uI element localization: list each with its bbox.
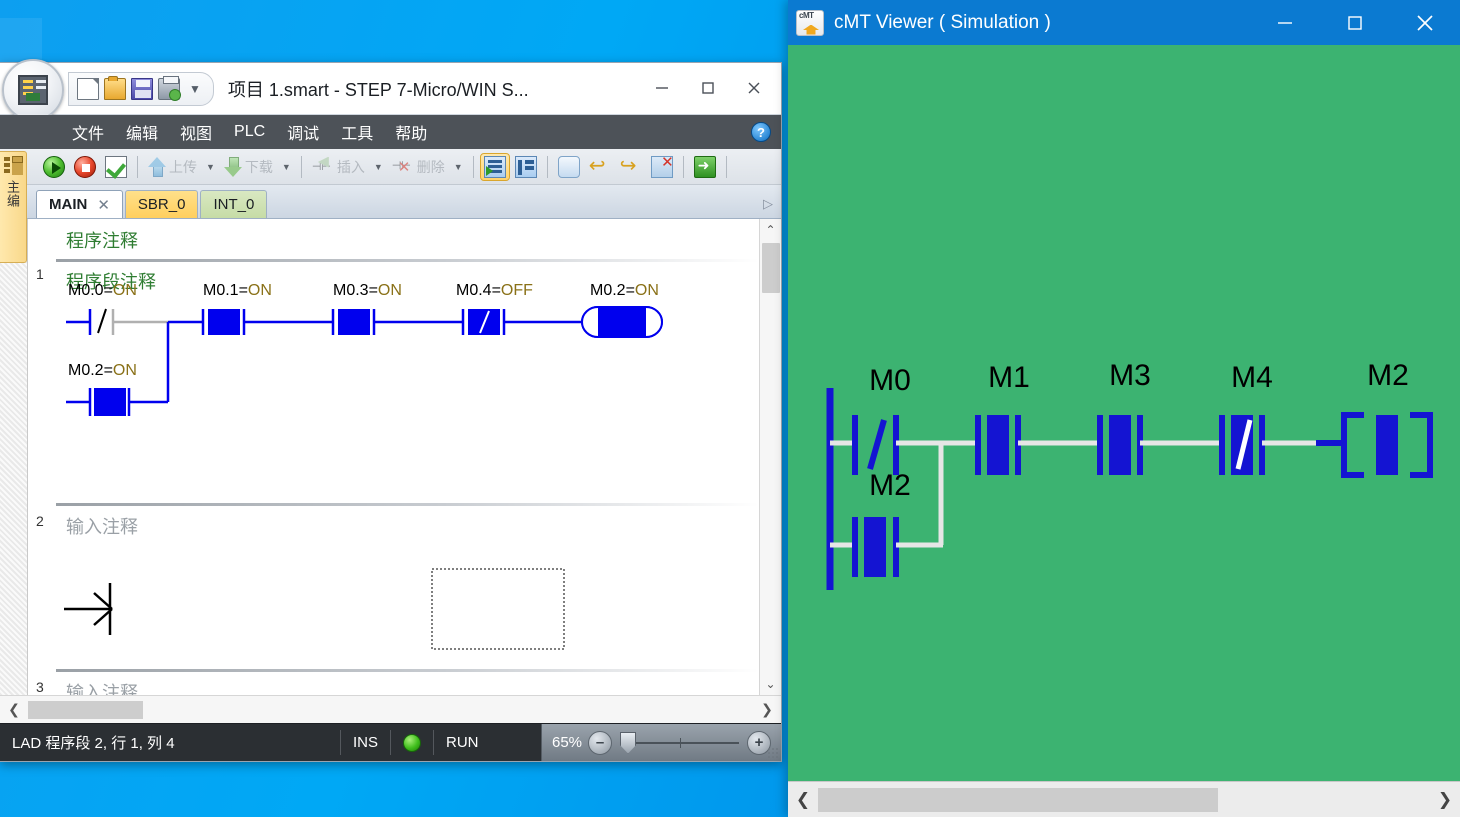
menu-item-help[interactable]: 帮助 — [395, 120, 427, 144]
main-toolbar[interactable]: 上传 ▼ 下载 ▼ 插入 ▼ 删除 ▼ — [0, 149, 781, 185]
stop-button[interactable] — [71, 154, 99, 180]
delete-label: 删除 — [417, 157, 445, 177]
zoom-slider-tick — [680, 738, 681, 748]
status-position: LAD 程序段 2, 行 1, 列 4 — [0, 724, 340, 761]
minimize-button[interactable] — [639, 69, 685, 107]
zoom-slider-track[interactable] — [620, 742, 739, 744]
scroll-up-icon[interactable]: ⌃ — [760, 219, 782, 241]
pause-status-button[interactable] — [555, 154, 583, 180]
cursor-selection-box — [432, 569, 564, 649]
zoom-control[interactable]: 65% – + — [541, 724, 781, 761]
menu-item-edit[interactable]: 编辑 — [126, 120, 158, 144]
insert-label: 插入 — [337, 157, 365, 177]
menu-bar[interactable]: 文件 编辑 视图 PLC 调试 工具 帮助 ? — [0, 115, 781, 149]
cmt-logo-icon — [796, 10, 824, 36]
cmt-minimize-button[interactable] — [1250, 0, 1320, 45]
compile-icon — [105, 156, 127, 178]
save-icon[interactable] — [131, 78, 153, 100]
menu-item-plc[interactable]: PLC — [234, 123, 265, 141]
maximize-button[interactable] — [685, 69, 731, 107]
sidebar-tab-label: 主编 — [3, 180, 22, 208]
window-title: 项目 1.smart - STEP 7-Micro/WIN S... — [228, 76, 529, 102]
editor-vertical-scrollbar[interactable]: ⌃ ⌄ — [759, 219, 781, 695]
toolbar-divider — [137, 156, 138, 178]
cmt-scroll-right-icon[interactable]: ❯ — [1430, 782, 1460, 817]
undo-button[interactable] — [586, 154, 614, 180]
scroll-right-icon[interactable]: ❯ — [753, 696, 781, 724]
tab-main-label: MAIN — [49, 196, 87, 213]
quick-access-chevron-down-icon[interactable]: ▼ — [189, 82, 201, 96]
zoom-percent-label: 65% — [552, 734, 582, 751]
insert-chevron-down-icon[interactable]: ▼ — [371, 162, 386, 172]
status-plc-mode: RUN — [434, 724, 491, 761]
segment-2-comment[interactable]: 输入注释 — [28, 507, 759, 539]
ladder-label-m02-contact: M0.2=ON — [68, 362, 137, 379]
ladder-label-m00: M0.0=ON — [68, 282, 137, 299]
cmt-maximize-button[interactable] — [1320, 0, 1390, 45]
cmt-scroll-thumb[interactable] — [818, 788, 1218, 812]
tab-main-close-icon[interactable]: ✕ — [97, 196, 110, 214]
hmi-ladder-diagram[interactable]: M0 M2 M1 M3 M4 M2 — [788, 45, 1460, 781]
run-button[interactable] — [40, 154, 68, 180]
insert-button[interactable]: 插入 — [309, 154, 368, 180]
compile-button[interactable] — [102, 154, 130, 180]
hmi-label-m2-contact: M2 — [869, 469, 911, 502]
chart-status-icon — [515, 156, 537, 178]
download-chevron-down-icon[interactable]: ▼ — [279, 162, 294, 172]
hmi-label-m3: M3 — [1109, 359, 1151, 392]
hmi-label-m1: M1 — [988, 361, 1030, 394]
tab-main[interactable]: MAIN ✕ — [36, 190, 123, 218]
rounded-rect-icon — [558, 156, 580, 178]
ladder-rung-2[interactable] — [28, 549, 628, 689]
undo-icon — [589, 156, 611, 178]
editor-horizontal-scrollbar[interactable]: ❮ ❯ — [0, 695, 781, 723]
segment-divider — [56, 669, 759, 672]
cmt-horizontal-scrollbar[interactable]: ❮ ❯ — [788, 781, 1460, 817]
status-bar: LAD 程序段 2, 行 1, 列 4 INS RUN 65% – + — [0, 723, 781, 761]
program-tree-icon — [4, 156, 22, 176]
help-icon[interactable]: ? — [751, 122, 771, 142]
cmt-window-controls[interactable] — [1250, 0, 1460, 45]
application-menu-orb[interactable] — [2, 59, 64, 121]
menu-item-view[interactable]: 视图 — [180, 120, 212, 144]
step7-title-bar[interactable]: ▼ 项目 1.smart - STEP 7-Micro/WIN S... — [0, 63, 781, 115]
toolbar-divider — [726, 156, 727, 178]
scroll-left-icon[interactable]: ❮ — [0, 696, 28, 724]
delete-icon — [392, 156, 414, 178]
editor-gutter — [0, 219, 28, 695]
plc-logo-icon — [18, 75, 48, 105]
toolbar-divider — [683, 156, 684, 178]
ladder-label-m01: M0.1=ON — [203, 282, 272, 299]
execute-button[interactable] — [691, 154, 719, 180]
step7-microwin-window[interactable]: 主编 ▼ 项目 1.smart - STEP 7-Micro/WIN S... — [0, 62, 782, 762]
insert-icon — [312, 156, 334, 178]
tab-sbr0-label: SBR_0 — [138, 196, 186, 213]
run-icon — [43, 156, 65, 178]
ladder-label-m02-coil: M0.2=ON — [590, 282, 659, 299]
segment-3-comment[interactable]: 输入注释 — [28, 673, 759, 695]
ladder-label-m03: M0.3=ON — [333, 282, 402, 299]
cmt-viewer-window[interactable]: cMT Viewer ( Simulation ) M0 M2 M1 M3 M4… — [788, 0, 1460, 817]
wallpaper-accent-block — [0, 18, 42, 64]
segment-number-3: 3 — [36, 679, 44, 695]
delete-stack-button[interactable] — [648, 154, 676, 180]
hmi-label-m2-coil: M2 — [1367, 359, 1409, 392]
tab-scroll-right-icon[interactable]: ▷ — [763, 196, 773, 212]
sidebar-tab-program-tree[interactable]: 主编 — [0, 151, 27, 263]
cmt-hmi-canvas[interactable]: M0 M2 M1 M3 M4 M2 — [788, 45, 1460, 781]
status-insert-mode: INS — [341, 724, 390, 761]
upload-chevron-down-icon[interactable]: ▼ — [203, 162, 218, 172]
window-controls[interactable] — [639, 69, 777, 107]
ladder-editor[interactable]: 程序注释 1 程序段注释 M0.0=ON M0.1=ON M0.3=ON M0.… — [0, 219, 781, 695]
scroll-down-icon[interactable]: ⌄ — [760, 673, 782, 695]
cmt-window-title: cMT Viewer ( Simulation ) — [834, 12, 1051, 34]
vertical-scroll-thumb[interactable] — [762, 243, 780, 293]
toolbar-divider — [301, 156, 302, 178]
green-arrow-icon — [694, 156, 716, 178]
cmt-title-bar[interactable]: cMT Viewer ( Simulation ) — [788, 0, 1460, 45]
program-status-icon — [484, 156, 506, 178]
menu-item-file[interactable]: 文件 — [72, 120, 104, 144]
segment-number-2: 2 — [36, 513, 44, 529]
ladder-label-m04: M0.4=OFF — [456, 282, 533, 299]
tab-int0-label: INT_0 — [213, 196, 254, 213]
new-file-icon[interactable] — [77, 78, 99, 100]
delete-chevron-down-icon[interactable]: ▼ — [451, 162, 466, 172]
cmt-scroll-left-icon[interactable]: ❮ — [788, 782, 818, 817]
menu-item-tools[interactable]: 工具 — [341, 120, 373, 144]
chart-status-button[interactable] — [512, 154, 540, 180]
upload-label: 上传 — [169, 157, 197, 177]
zoom-slider-thumb[interactable] — [620, 732, 636, 754]
upload-button[interactable]: 上传 — [145, 155, 200, 179]
redo-icon — [620, 156, 642, 178]
delete-stack-icon — [651, 156, 673, 178]
status-led-wrap — [391, 724, 433, 761]
segment-divider — [56, 503, 759, 506]
plc-status-led-icon — [403, 734, 421, 752]
toolbar-divider — [547, 156, 548, 178]
download-arrow-icon — [224, 157, 242, 177]
stop-icon — [74, 156, 96, 178]
program-status-button[interactable] — [481, 154, 509, 180]
tab-sbr0[interactable]: SBR_0 — [125, 190, 199, 218]
hmi-label-m4: M4 — [1231, 361, 1273, 394]
program-comment[interactable]: 程序注释 — [28, 219, 759, 259]
toolbar-divider — [473, 156, 474, 178]
cmt-close-button[interactable] — [1390, 0, 1460, 45]
ladder-canvas[interactable]: 程序注释 1 程序段注释 M0.0=ON M0.1=ON M0.3=ON M0.… — [28, 219, 759, 695]
ladder-rung-1[interactable]: M0.0=ON M0.1=ON M0.3=ON M0.4=OFF M0.2=ON… — [28, 271, 728, 461]
quick-access-toolbar[interactable]: ▼ — [68, 72, 214, 106]
download-button[interactable]: 下载 — [221, 155, 276, 179]
resize-grip-icon[interactable] — [767, 747, 779, 759]
close-button[interactable] — [731, 69, 777, 107]
hmi-label-m0: M0 — [869, 364, 911, 397]
download-label: 下载 — [245, 157, 273, 177]
menu-item-debug[interactable]: 调试 — [287, 120, 319, 144]
delete-button[interactable]: 删除 — [389, 154, 448, 180]
horizontal-scroll-thumb[interactable] — [28, 701, 143, 719]
zoom-out-button[interactable]: – — [588, 731, 612, 755]
editor-tab-strip[interactable]: ◁ MAIN ✕ SBR_0 INT_0 ▷ — [0, 185, 781, 219]
redo-button[interactable] — [617, 154, 645, 180]
print-icon[interactable] — [158, 78, 180, 100]
upload-arrow-icon — [148, 157, 166, 177]
tab-int0[interactable]: INT_0 — [200, 190, 267, 218]
open-folder-icon[interactable] — [104, 78, 126, 100]
